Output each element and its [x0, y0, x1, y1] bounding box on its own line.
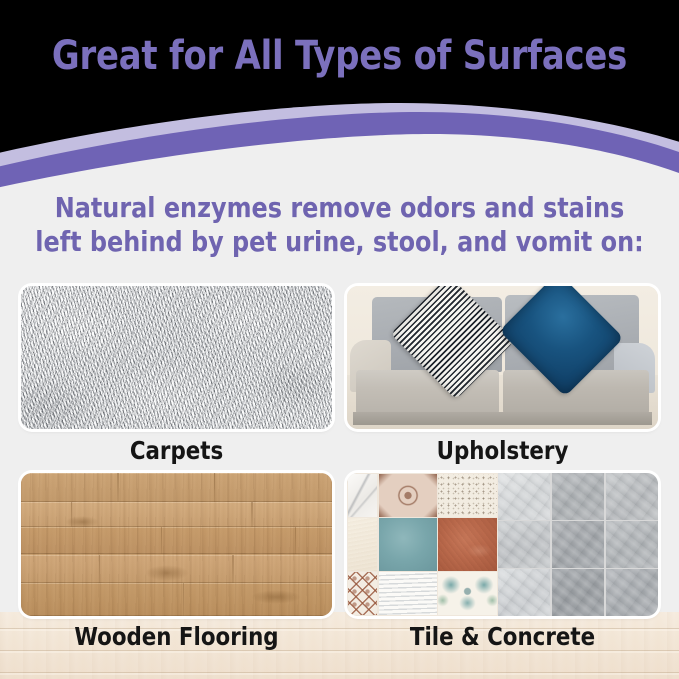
- tile-plain-cream: [348, 518, 377, 570]
- gray-concrete-section: [498, 473, 658, 616]
- concrete-tile: [552, 521, 604, 568]
- surface-card-tile-concrete: [347, 473, 658, 616]
- tile-wavy-white: [379, 572, 437, 615]
- caption-wooden-flooring: Wooden Flooring: [29, 622, 324, 651]
- patterned-tile-and-gray-concrete-photo: [347, 473, 658, 616]
- surfaces-infographic: Great for All Types of Surfaces Natural …: [0, 0, 679, 679]
- tile-teal: [379, 518, 437, 570]
- tile-diamond-pattern: [348, 572, 377, 615]
- subtitle: Natural enzymes remove odors and stains …: [17, 191, 662, 259]
- concrete-tile: [552, 473, 604, 520]
- concrete-tile: [606, 521, 658, 568]
- concrete-tile: [498, 521, 550, 568]
- surface-card-carpets: [21, 286, 332, 429]
- concrete-tile: [606, 473, 658, 520]
- tile-ornate-brown: [379, 474, 437, 517]
- tile-terracotta: [438, 518, 496, 570]
- subtitle-line-2: left behind by pet urine, stool, and vom…: [17, 225, 662, 259]
- oak-wood-plank-floor-photo: [21, 473, 332, 616]
- decorative-tile-section: [347, 473, 498, 616]
- concrete-tile: [552, 569, 604, 616]
- concrete-tile: [606, 569, 658, 616]
- surface-card-upholstery: [347, 286, 658, 429]
- wood-grain-overlay: [21, 473, 332, 616]
- subtitle-line-1: Natural enzymes remove odors and stains: [17, 191, 662, 225]
- surface-card-grid: Carpets Upholstery: [0, 0, 679, 679]
- shaggy-white-carpet-photo: [21, 286, 332, 429]
- concrete-tile: [498, 473, 550, 520]
- tile-marble: [348, 474, 377, 517]
- caption-tile-concrete: Tile & Concrete: [355, 622, 650, 651]
- tile-teal-floral: [438, 572, 496, 615]
- tile-speckled-cream: [438, 474, 496, 517]
- surface-card-wooden-flooring: [21, 473, 332, 616]
- caption-upholstery: Upholstery: [355, 436, 650, 465]
- gray-sofa-photo: [347, 286, 658, 429]
- concrete-tile: [498, 569, 550, 616]
- sofa-base: [353, 412, 652, 425]
- caption-carpets: Carpets: [29, 436, 324, 465]
